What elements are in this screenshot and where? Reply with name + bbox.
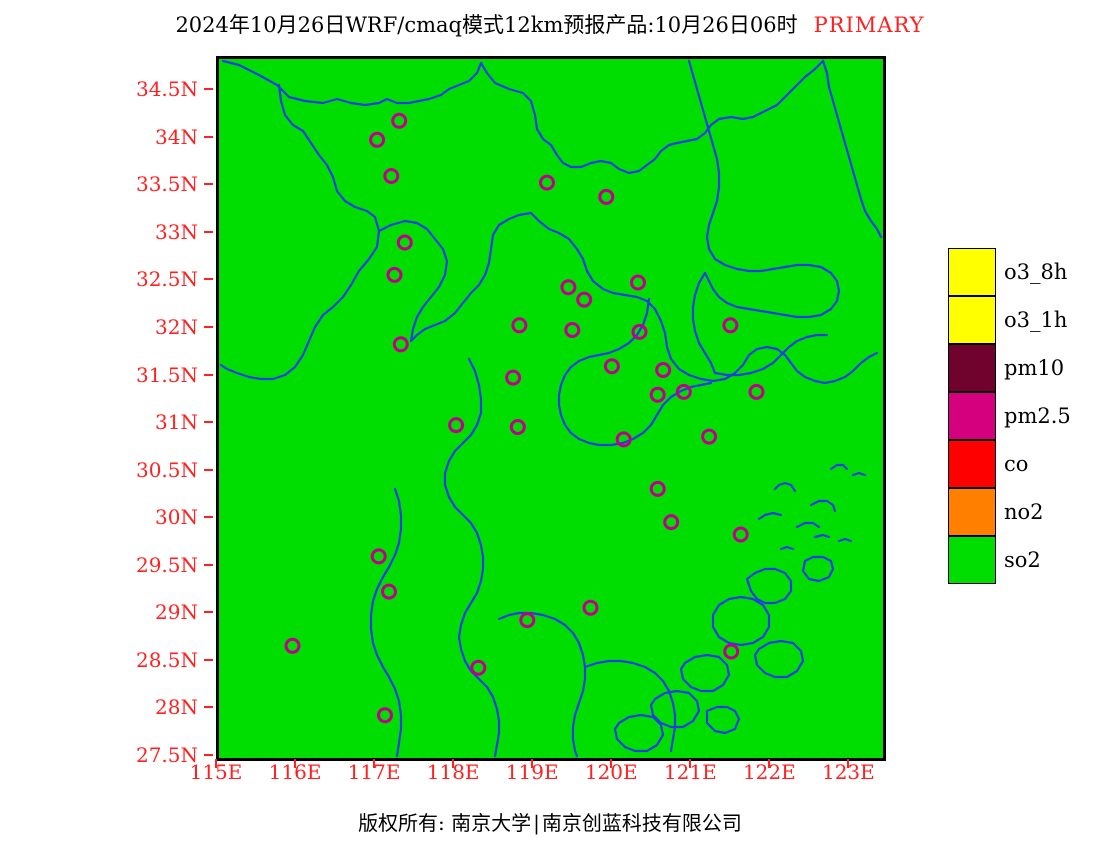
y-axis-label: 33N bbox=[0, 222, 198, 242]
y-axis-label: 33.5N bbox=[0, 174, 198, 194]
footer-separator: | bbox=[531, 811, 542, 835]
legend-color-swatch bbox=[948, 440, 996, 488]
x-axis-label: 123E bbox=[788, 762, 908, 782]
y-axis-tick bbox=[204, 564, 213, 566]
legend-item-pm10[interactable]: pm10 bbox=[948, 344, 1088, 392]
copyright-footer: 版权所有: 南京大学|南京创蓝科技有限公司 bbox=[0, 810, 1100, 836]
y-axis-tick bbox=[204, 706, 213, 708]
legend-label: pm10 bbox=[1004, 356, 1064, 380]
y-axis-label: 30.5N bbox=[0, 460, 198, 480]
legend-color-swatch bbox=[948, 344, 996, 392]
footer-right-text: 南京创蓝科技有限公司 bbox=[542, 811, 742, 835]
y-axis-tick bbox=[204, 231, 213, 233]
footer-left-text: 版权所有: 南京大学 bbox=[358, 811, 531, 835]
y-axis-label: 31N bbox=[0, 412, 198, 432]
map-canvas bbox=[219, 59, 883, 758]
legend-label: o3_1h bbox=[1004, 308, 1067, 332]
y-axis-label: 32N bbox=[0, 317, 198, 337]
y-axis-tick bbox=[204, 278, 213, 280]
y-axis-tick bbox=[204, 469, 213, 471]
y-axis-label: 31.5N bbox=[0, 365, 198, 385]
page-title-main: 2024年10月26日WRF/cmaq模式12km预报产品:10月26日06时 bbox=[175, 13, 797, 37]
y-axis-tick bbox=[204, 611, 213, 613]
y-axis-label: 28.5N bbox=[0, 650, 198, 670]
legend-item-o3-8h[interactable]: o3_8h bbox=[948, 248, 1088, 296]
y-axis-label: 30N bbox=[0, 507, 198, 527]
page-title-primary: PRIMARY bbox=[814, 13, 925, 37]
y-axis-label: 34.5N bbox=[0, 79, 198, 99]
legend-label: no2 bbox=[1004, 500, 1044, 524]
y-axis-label: 32.5N bbox=[0, 269, 198, 289]
y-axis-tick bbox=[204, 374, 213, 376]
legend-item-pm2-5[interactable]: pm2.5 bbox=[948, 392, 1088, 440]
y-axis-label: 29N bbox=[0, 602, 198, 622]
y-axis-tick bbox=[204, 326, 213, 328]
legend-label: co bbox=[1004, 452, 1028, 476]
legend-color-swatch bbox=[948, 296, 996, 344]
legend-item-no2[interactable]: no2 bbox=[948, 488, 1088, 536]
y-axis-tick bbox=[204, 516, 213, 518]
legend-label: so2 bbox=[1004, 548, 1041, 572]
legend-item-co[interactable]: co bbox=[948, 440, 1088, 488]
y-axis-label: 34N bbox=[0, 127, 198, 147]
y-axis-label: 29.5N bbox=[0, 555, 198, 575]
so2-fill-layer bbox=[219, 59, 883, 758]
y-axis-tick bbox=[204, 183, 213, 185]
y-axis-label: 28N bbox=[0, 697, 198, 717]
legend-item-o3-1h[interactable]: o3_1h bbox=[948, 296, 1088, 344]
legend-item-so2[interactable]: so2 bbox=[948, 536, 1088, 584]
legend-color-swatch bbox=[948, 392, 996, 440]
legend-label: o3_8h bbox=[1004, 260, 1067, 284]
forecast-map-page: 2024年10月26日WRF/cmaq模式12km预报产品:10月26日06时P… bbox=[0, 0, 1100, 850]
legend-color-swatch bbox=[948, 536, 996, 584]
y-axis-tick bbox=[204, 136, 213, 138]
pollutant-legend[interactable]: o3_8ho3_1hpm10pm2.5cono2so2 bbox=[948, 248, 1088, 584]
y-axis-tick bbox=[204, 659, 213, 661]
legend-color-swatch bbox=[948, 248, 996, 296]
map-plot-area[interactable] bbox=[216, 56, 886, 761]
legend-color-swatch bbox=[948, 488, 996, 536]
y-axis-tick bbox=[204, 754, 213, 756]
page-title: 2024年10月26日WRF/cmaq模式12km预报产品:10月26日06时P… bbox=[0, 12, 1100, 38]
y-axis-tick bbox=[204, 421, 213, 423]
legend-label: pm2.5 bbox=[1004, 404, 1071, 428]
y-axis-tick bbox=[204, 88, 213, 90]
